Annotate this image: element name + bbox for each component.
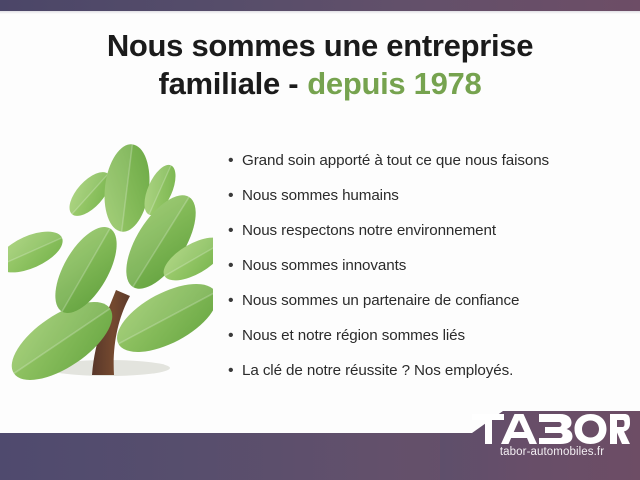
value-proposition-list: • Grand soin apporté à tout ce que nous … [228, 150, 628, 395]
list-item-label: Nous sommes innovants [242, 255, 406, 277]
list-item: • Nous sommes humains [228, 185, 628, 220]
bullet-icon: • [228, 360, 242, 382]
top-accent-bar-shadow [0, 11, 640, 14]
list-item: • Nous sommes innovants [228, 255, 628, 290]
brand-logo[interactable]: tabor-automobiles.fr [472, 414, 632, 458]
list-item: • Nous sommes un partenaire de confiance [228, 290, 628, 325]
tabor-wordmark-icon [472, 414, 630, 444]
bullet-icon: • [228, 185, 242, 207]
title-line-2: familiale -depuis 1978 [0, 65, 640, 103]
bullet-icon: • [228, 255, 242, 277]
list-item-label: La clé de notre réussite ? Nos employés. [242, 360, 513, 382]
title-line-2-plain: familiale - [159, 66, 299, 101]
tree-illustration [8, 138, 213, 386]
brand-url[interactable]: tabor-automobiles.fr [472, 446, 632, 458]
bullet-icon: • [228, 290, 242, 312]
tree-icon [8, 138, 213, 386]
list-item: • La clé de notre réussite ? Nos employé… [228, 360, 628, 395]
bullet-icon: • [228, 325, 242, 347]
top-accent-bar [0, 0, 640, 11]
slide-canvas: Nous sommes une entreprise familiale -de… [0, 0, 640, 480]
list-item-label: Grand soin apporté à tout ce que nous fa… [242, 150, 549, 172]
list-item-label: Nous sommes un partenaire de confiance [242, 290, 519, 312]
bullet-icon: • [228, 220, 242, 242]
list-item: • Nous et notre région sommes liés [228, 325, 628, 360]
bullet-icon: • [228, 150, 242, 172]
list-item-label: Nous respectons notre environnement [242, 220, 496, 242]
list-item: • Nous respectons notre environnement [228, 220, 628, 255]
list-item: • Grand soin apporté à tout ce que nous … [228, 150, 628, 185]
list-item-label: Nous et notre région sommes liés [242, 325, 465, 347]
title-line-1: Nous sommes une entreprise [0, 27, 640, 65]
page-title: Nous sommes une entreprise familiale -de… [0, 27, 640, 103]
list-item-label: Nous sommes humains [242, 185, 399, 207]
title-line-2-accent: depuis 1978 [307, 66, 481, 101]
